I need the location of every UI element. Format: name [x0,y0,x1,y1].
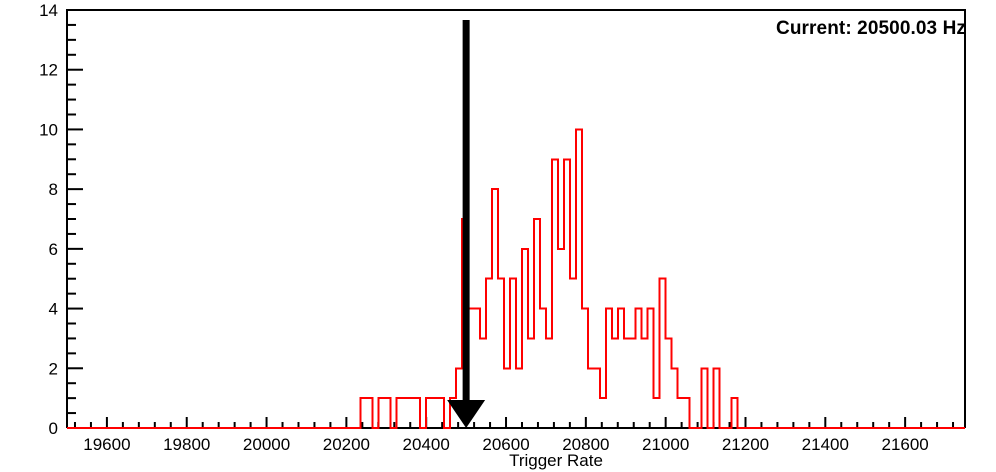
current-rate-marker-arrowhead [447,400,485,428]
chart-root: 1960019800200002020020400206002080021000… [0,0,996,472]
x-axis-title: Trigger Rate [509,451,603,470]
x-tick-label: 19600 [83,435,130,454]
y-tick-label: 10 [39,120,58,139]
x-tick-label: 19800 [163,435,210,454]
y-tick-label: 12 [39,61,58,80]
x-tick-label: 20000 [243,435,290,454]
x-tick-label: 21600 [881,435,928,454]
x-tick-label: 21000 [642,435,689,454]
y-tick-label: 0 [49,419,58,438]
y-tick-label: 14 [39,1,58,20]
y-tick-label: 6 [49,240,58,259]
y-tick-label: 4 [49,300,58,319]
current-rate-label: Current: 20500.03 Hz [776,18,966,40]
y-tick-label: 8 [49,180,58,199]
x-tick-label: 21200 [722,435,769,454]
histogram-outline [67,129,965,428]
x-tick-label: 21400 [802,435,849,454]
x-tick-label: 20400 [403,435,450,454]
y-tick-label: 2 [49,359,58,378]
x-tick-label: 20200 [323,435,370,454]
histogram-plot: 1960019800200002020020400206002080021000… [0,0,996,472]
